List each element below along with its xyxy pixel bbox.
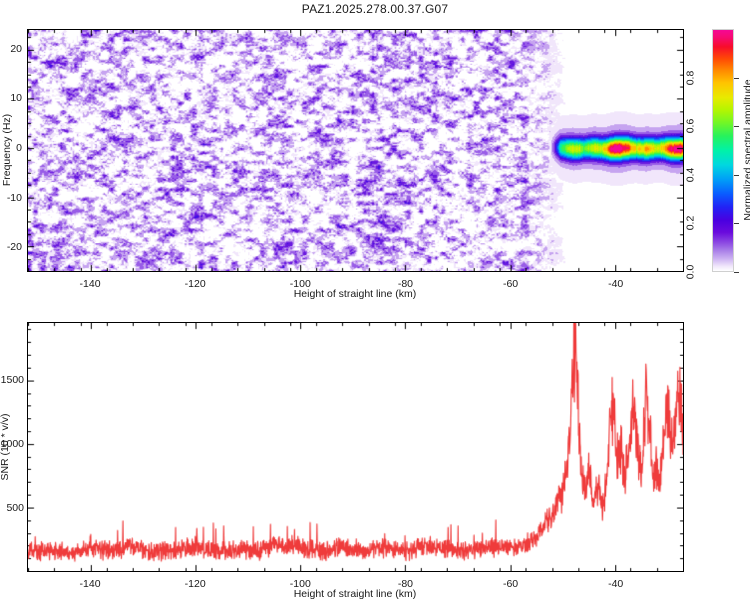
snr-ytick-label: 1500 [0,374,24,386]
spectrogram-xtick-label: -140 [80,278,101,290]
spectrogram-ytick-label: -20 [2,241,22,253]
colorbar-tick [734,78,739,79]
snr-xtick-label: -140 [80,578,101,590]
spectrogram-xtick-label: -60 [503,278,518,290]
colorbar-tick-label: 0.0 [685,265,697,280]
snr-xtick-label: -40 [608,578,623,590]
spectrogram-ytick-label: 10 [2,92,22,104]
snr-ytick-label: 500 [0,502,24,514]
colorbar-tick [734,223,739,224]
snr-y-axis-title: SNR (10 * v/v) [0,413,11,480]
snr-x-axis-title: Height of straight line (km) [294,588,417,600]
spectrogram-plot-area[interactable] [27,29,684,272]
spectrogram-y-axis-title: Frequency (Hz) [1,114,13,186]
spectrogram-ytick-label: 20 [2,43,22,55]
colorbar-tick-label: 0.4 [685,167,697,182]
spectrogram-canvas [28,30,683,271]
page-title: PAZ1.2025.278.00.37.G07 [0,2,750,16]
snr-plot-area[interactable] [27,322,684,572]
spectrogram-ytick-label: -10 [2,192,22,204]
spectrogram-x-axis-title: Height of straight line (km) [294,288,417,300]
colorbar-tick-label: 0.2 [685,216,697,231]
snr-xtick-label: -60 [503,578,518,590]
spectrogram-xtick-label: -40 [608,278,623,290]
colorbar[interactable]: 0.0 0.2 0.4 0.6 0.8 [712,29,734,272]
snr-xtick-label: -120 [185,578,206,590]
colorbar-tick [734,272,739,273]
colorbar-axis-title: Normalized spectral amplitude [742,79,750,220]
colorbar-tick-label: 0.6 [685,119,697,134]
colorbar-tick [734,126,739,127]
snr-canvas [28,323,683,571]
figure-root: PAZ1.2025.278.00.37.G07 -20 -10 0 10 20 … [0,0,750,600]
spectrogram-xtick-label: -120 [185,278,206,290]
colorbar-tick [734,175,739,176]
colorbar-tick-label: 0.8 [685,70,697,85]
colorbar-gradient [712,29,734,272]
